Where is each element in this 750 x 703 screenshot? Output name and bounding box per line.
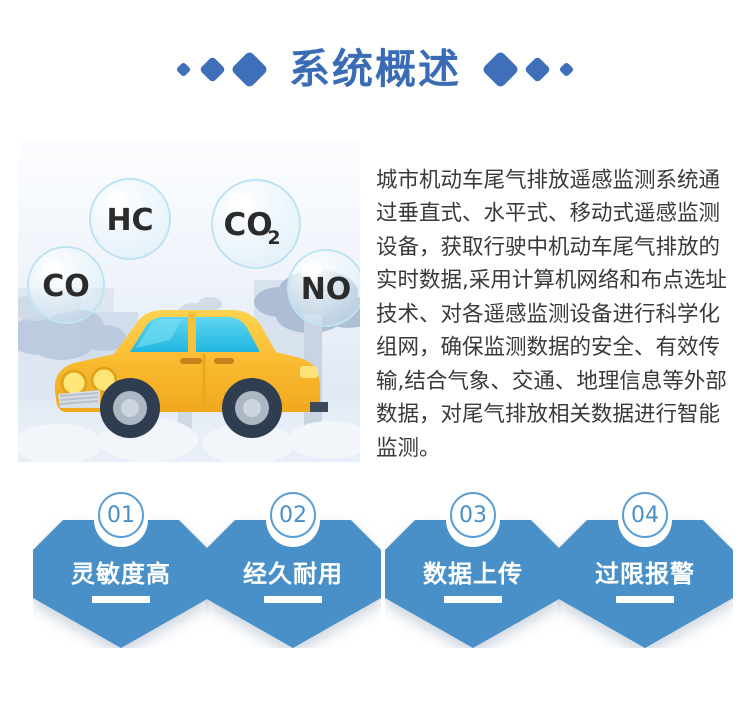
feature-badge-04[interactable]: 04 过限报警 [557, 492, 733, 648]
svg-text:HC: HC [106, 203, 153, 238]
badge-label: 过限报警 [557, 554, 733, 589]
bubble-co: CO [28, 247, 104, 323]
svg-text:2: 2 [267, 227, 280, 249]
header-decoration-right [487, 56, 572, 83]
badge-underline [92, 596, 150, 603]
badge-number-circle: 03 [450, 492, 496, 538]
diamond-medium-icon [524, 56, 551, 83]
svg-text:NO: NO [301, 272, 352, 307]
badge-number-circle: 04 [622, 492, 668, 538]
emission-illustration: HC CO 2 CO NO [18, 140, 360, 462]
feature-badges: 01 灵敏度高 02 经久耐用 [0, 492, 750, 652]
badge-number-circle: 01 [98, 492, 144, 538]
content-row: HC CO 2 CO NO [0, 140, 750, 465]
badge-label: 数据上传 [385, 554, 561, 589]
illustration-svg: HC CO 2 CO NO [18, 140, 360, 462]
page-header: 系统概述 [0, 38, 750, 100]
badge-number-circle: 02 [270, 492, 316, 538]
diamond-small-icon [559, 61, 575, 77]
badge-underline [444, 596, 502, 603]
badge-underline [616, 596, 674, 603]
diamond-large-icon [230, 50, 268, 88]
diamond-medium-icon [199, 56, 226, 83]
description-paragraph: 城市机动车尾气排放遥感监测系统通过垂直式、水平式、移动式遥感监测设备，获取行驶中… [376, 164, 738, 466]
badge-underline [264, 596, 322, 603]
bubble-hc: HC [90, 179, 170, 259]
svg-text:CO: CO [42, 269, 90, 304]
feature-badge-03[interactable]: 03 数据上传 [385, 492, 561, 648]
svg-text:CO: CO [223, 207, 272, 243]
badge-label: 经久耐用 [205, 554, 381, 589]
page-root: 系统概述 [0, 0, 750, 703]
badge-label: 灵敏度高 [33, 554, 209, 589]
bubble-co2: CO 2 [212, 180, 300, 268]
page-title: 系统概述 [289, 49, 461, 90]
diamond-large-icon [481, 50, 519, 88]
diamond-small-icon [176, 61, 192, 77]
feature-badge-02[interactable]: 02 经久耐用 [205, 492, 381, 648]
feature-badge-01[interactable]: 01 灵敏度高 [33, 492, 209, 648]
bubble-no: NO [288, 250, 360, 326]
header-decoration-left [178, 56, 263, 83]
